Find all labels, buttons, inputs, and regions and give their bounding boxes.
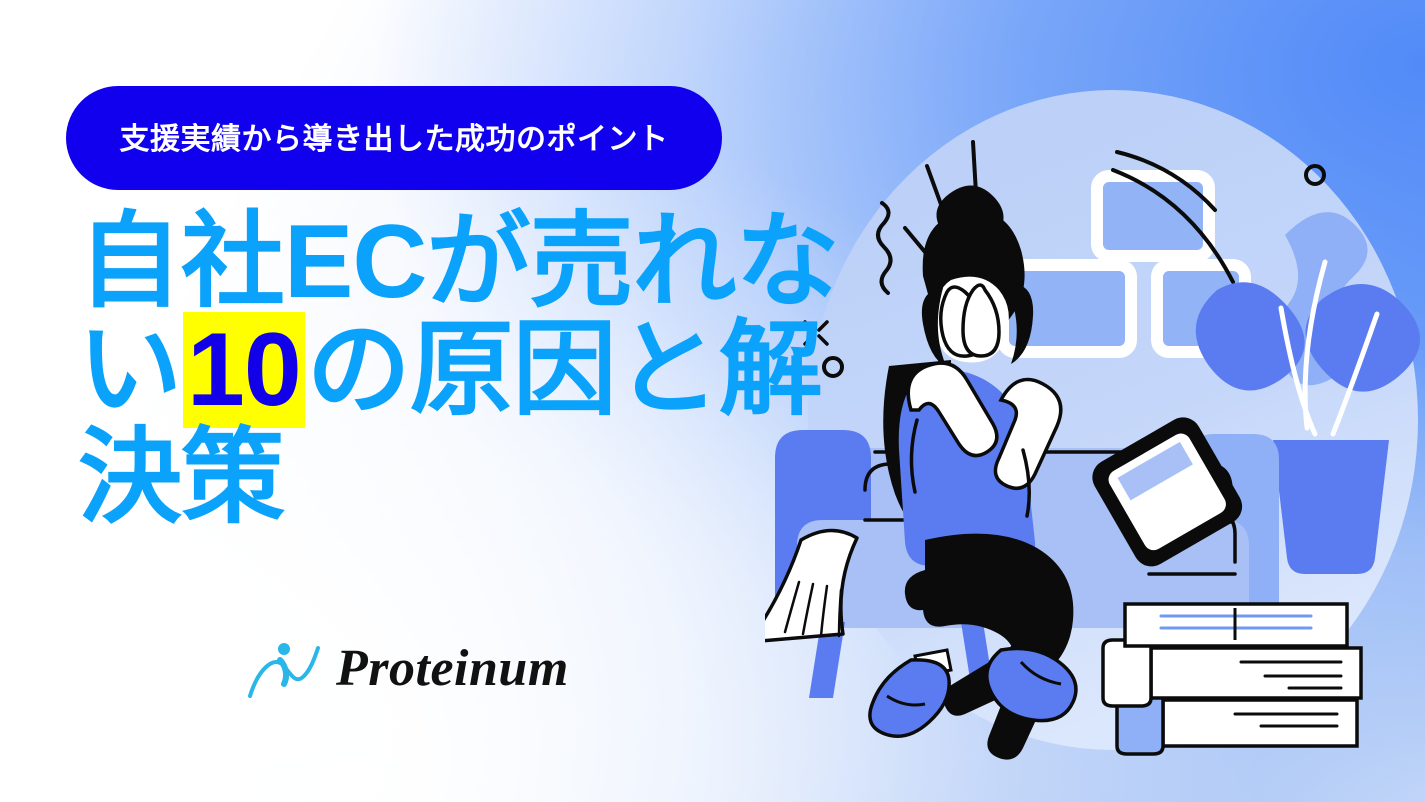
headline-line-2-suffix: の原因と解 [307, 312, 822, 428]
hero-banner-canvas: 支援実績から導き出した成功のポイント 自社ECが売れな い10の原因と解 決策 … [0, 0, 1425, 802]
headline-line-2-prefix: い [78, 312, 181, 428]
eyebrow-badge: 支援実績から導き出した成功のポイント [66, 86, 722, 190]
headline-line-2: い10の原因と解 [78, 316, 838, 424]
headline-highlight-number: 10 [183, 312, 305, 428]
eyebrow-badge-label: 支援実績から導き出した成功のポイント [120, 114, 669, 158]
shoe-left [870, 660, 949, 736]
brand-wordmark: Proteinum [336, 643, 569, 695]
book-stack [1103, 604, 1361, 754]
headline-line-3: 決策 [78, 424, 838, 532]
proteinum-swoosh-icon [248, 640, 322, 698]
brand-logo: Proteinum [248, 640, 569, 698]
headline-line-1: 自社ECが売れな [78, 208, 838, 316]
page-title: 自社ECが売れな い10の原因と解 決策 [78, 208, 838, 532]
hero-illustration [765, 0, 1425, 802]
